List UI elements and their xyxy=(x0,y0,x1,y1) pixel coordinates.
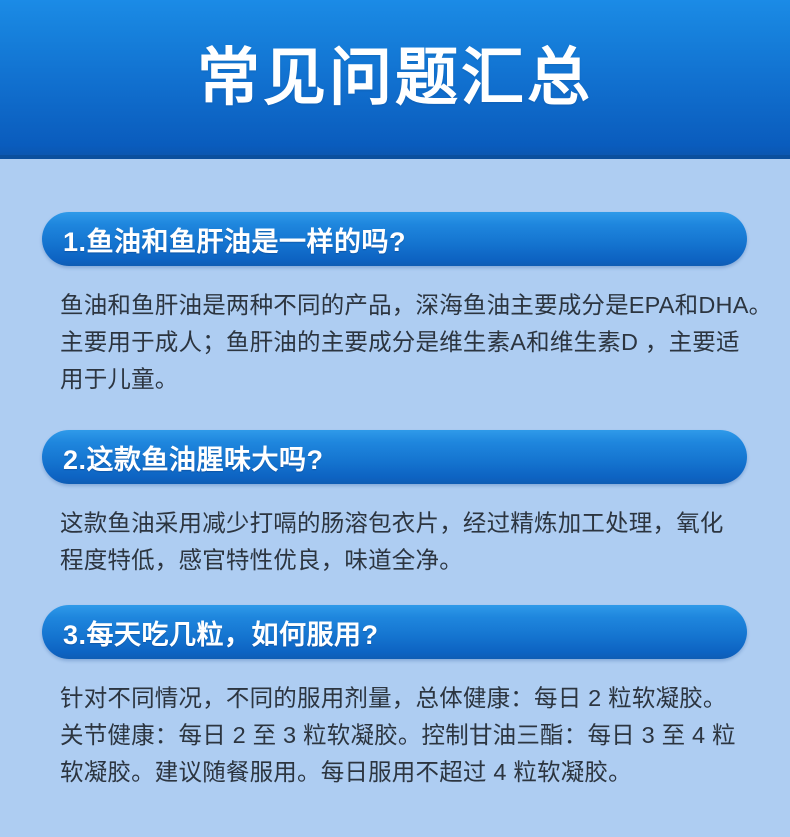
faq-question-pill-1[interactable]: 1.鱼油和鱼肝油是一样的吗? xyxy=(42,212,747,266)
faq-answer-line: 关节健康：每日 2 至 3 粒软凝胶。控制甘油三酯：每日 3 至 4 粒 xyxy=(60,717,760,754)
faq-item-3: 3.每天吃几粒，如何服用? 针对不同情况，不同的服用剂量，总体健康：每日 2 粒… xyxy=(0,605,790,791)
faq-answer-line: 程度特低，感官特性优良，味道全净。 xyxy=(60,542,760,579)
faq-answer-line: 主要用于成人；鱼肝油的主要成分是维生素A和维生素D ，主要适 xyxy=(60,324,760,361)
faq-answer-line: 针对不同情况，不同的服用剂量，总体健康：每日 2 粒软凝胶。 xyxy=(60,680,760,717)
page-header-banner: 常见问题汇总 xyxy=(0,0,790,158)
faq-question-text-1: 1.鱼油和鱼肝油是一样的吗? xyxy=(42,220,406,259)
faq-answer-line: 软凝胶。建议随餐服用。每日服用不超过 4 粒软凝胶。 xyxy=(60,754,760,791)
faq-answer-line: 鱼油和鱼肝油是两种不同的产品，深海鱼油主要成分是EPA和DHA。 xyxy=(60,287,760,324)
faq-question-text-2: 2.这款鱼油腥味大吗? xyxy=(42,438,324,477)
faq-question-pill-3[interactable]: 3.每天吃几粒，如何服用? xyxy=(42,605,747,659)
faq-item-1: 1.鱼油和鱼肝油是一样的吗? 鱼油和鱼肝油是两种不同的产品，深海鱼油主要成分是E… xyxy=(0,212,790,398)
faq-question-text-3: 3.每天吃几粒，如何服用? xyxy=(42,613,379,652)
page-title: 常见问题汇总 xyxy=(0,36,790,120)
faq-answer-2: 这款鱼油采用减少打嗝的肠溶包衣片，经过精炼加工处理，氧化 程度特低，感官特性优良… xyxy=(60,505,760,579)
faq-answer-line: 这款鱼油采用减少打嗝的肠溶包衣片，经过精炼加工处理，氧化 xyxy=(60,505,760,542)
faq-answer-line: 用于儿童。 xyxy=(60,361,760,398)
faq-item-2: 2.这款鱼油腥味大吗? 这款鱼油采用减少打嗝的肠溶包衣片，经过精炼加工处理，氧化… xyxy=(0,430,790,579)
faq-question-pill-2[interactable]: 2.这款鱼油腥味大吗? xyxy=(42,430,747,484)
faq-list: 1.鱼油和鱼肝油是一样的吗? 鱼油和鱼肝油是两种不同的产品，深海鱼油主要成分是E… xyxy=(0,159,790,837)
faq-answer-1: 鱼油和鱼肝油是两种不同的产品，深海鱼油主要成分是EPA和DHA。 主要用于成人；… xyxy=(60,287,760,398)
faq-answer-3: 针对不同情况，不同的服用剂量，总体健康：每日 2 粒软凝胶。 关节健康：每日 2… xyxy=(60,680,760,791)
